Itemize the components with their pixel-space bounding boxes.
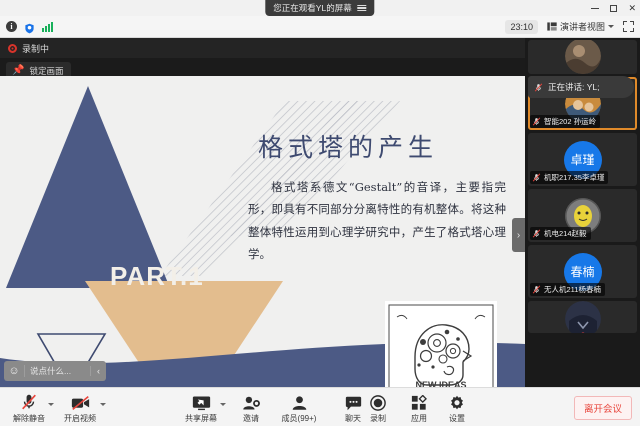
settings-button[interactable]: 设置 <box>434 392 480 424</box>
participant-name: 智能202 孙运岭 <box>544 116 596 127</box>
participants-button[interactable]: 成员(99+) <box>272 392 326 424</box>
top-toolbar-left-group: i <box>6 21 53 32</box>
mic-off-icon <box>532 285 541 294</box>
video-button-label: 开启视频 <box>64 413 96 424</box>
participant-tile[interactable] <box>528 301 637 333</box>
shield-icon[interactable] <box>24 21 35 32</box>
brain-idea-graphic: NEW IDEAS BE MORE CREATIVE <box>385 301 497 387</box>
participant-tile[interactable] <box>528 40 637 74</box>
recording-dot-icon <box>8 44 17 53</box>
mic-off-icon <box>20 392 38 411</box>
speaking-now-toast: 正在讲话: YL; <box>528 76 634 98</box>
fullscreen-icon[interactable] <box>623 21 634 32</box>
meeting-timer: 23:10 <box>505 20 538 34</box>
chat-input-placeholder[interactable]: 说点什么... <box>24 365 90 377</box>
mic-off-icon <box>532 229 541 238</box>
settings-label: 设置 <box>449 413 465 424</box>
slide-body-text: 格式塔系德文“Gestalt”的音译，主要指完形，即具有不同部分分离特性的有机整… <box>248 176 506 266</box>
share-screen-button[interactable]: 共享屏幕 <box>178 392 224 424</box>
minimize-button[interactable] <box>591 8 599 9</box>
illustration-headline: NEW IDEAS <box>415 380 466 387</box>
invite-button[interactable]: 邀请 <box>228 392 274 424</box>
banner-menu-icon[interactable] <box>358 5 367 12</box>
share-screen-label: 共享屏幕 <box>185 413 217 424</box>
mic-off-icon <box>532 173 541 182</box>
participant-name-badge: 智能202 孙运岭 <box>530 115 600 128</box>
pin-icon: 📌 <box>12 66 24 76</box>
mute-button[interactable]: 解除静音 <box>6 392 52 424</box>
participant-name: 机职217.35李卓瑾 <box>544 172 604 183</box>
participant-tile[interactable]: 春楠 无人机211杨春楠 <box>528 245 637 298</box>
slide-chat-input-bar[interactable]: ☺ 说点什么... ‹ <box>4 361 106 381</box>
apps-label: 应用 <box>411 413 427 424</box>
top-toolbar-right-group: 23:10 演讲者视图 <box>505 20 634 34</box>
video-button[interactable]: 开启视频 <box>57 392 103 424</box>
participant-name: 无人机211杨春楠 <box>544 284 601 295</box>
leave-meeting-button[interactable]: 离开会议 <box>574 396 632 420</box>
meeting-bottom-toolbar: 解除静音 开启视频 共享屏幕 <box>0 387 640 426</box>
maximize-button[interactable] <box>610 5 617 12</box>
avatar <box>565 40 601 74</box>
invite-icon <box>242 392 261 411</box>
recording-status-bar: 录制中 <box>0 38 525 58</box>
speaker-view-icon <box>547 22 557 31</box>
close-button[interactable]: ✕ <box>628 4 636 13</box>
mic-off-icon <box>532 117 541 126</box>
recording-label: 录制中 <box>22 42 49 55</box>
apps-icon <box>411 392 427 411</box>
slide-part-label: PART.1 <box>110 261 204 292</box>
viewing-screen-label: 您正在观看YL的屏幕 <box>273 2 351 14</box>
presentation-slide: 格式塔的产生 格式塔系德文“Gestalt”的音译，主要指完形，即具有不同部分分… <box>0 76 525 387</box>
participant-tile[interactable]: 卓瑾 机职217.35李卓瑾 <box>528 133 637 186</box>
emoji-icon[interactable]: ☺ <box>4 365 24 377</box>
participants-label: 成员(99+) <box>282 413 317 424</box>
slide-title: 格式塔的产生 <box>258 128 438 164</box>
record-icon <box>370 392 386 411</box>
record-button[interactable]: 录制 <box>355 392 401 424</box>
view-mode-label: 演讲者视图 <box>560 20 605 33</box>
participant-tile[interactable]: 机电214赵毅 <box>528 189 637 242</box>
chat-collapse-button[interactable]: ‹ <box>90 366 106 376</box>
avatar <box>565 301 601 333</box>
window-title-bar: 您正在观看YL的屏幕 ✕ <box>0 0 640 16</box>
invite-label: 邀请 <box>243 413 259 424</box>
signal-bars-icon[interactable] <box>42 22 53 32</box>
participants-icon <box>291 392 308 411</box>
stage-expand-button[interactable]: › <box>512 218 525 252</box>
mute-options-chevron-icon[interactable] <box>48 403 54 406</box>
info-icon[interactable]: i <box>6 21 17 32</box>
chevron-down-icon <box>608 25 614 28</box>
speaking-now-label: 正在讲话: YL; <box>548 81 599 93</box>
share-options-chevron-icon[interactable] <box>220 403 226 406</box>
participant-name-badge: 无人机211杨春楠 <box>530 283 605 296</box>
participant-name: 机电214赵毅 <box>544 228 587 239</box>
mic-off-icon <box>534 83 543 92</box>
record-label: 录制 <box>370 413 386 424</box>
window-controls: ✕ <box>591 0 636 16</box>
video-options-chevron-icon[interactable] <box>100 403 106 406</box>
brain-illustration: NEW IDEAS BE MORE CREATIVE <box>385 301 497 387</box>
shared-screen-stage: 录制中 📌 锁定画面 <box>0 38 525 387</box>
view-mode-selector[interactable]: 演讲者视图 <box>547 20 614 33</box>
meeting-top-toolbar: i 23:10 演讲者视图 <box>0 16 640 38</box>
video-off-icon <box>71 392 90 411</box>
share-screen-icon <box>192 392 211 411</box>
viewing-screen-banner[interactable]: 您正在观看YL的屏幕 <box>265 0 374 16</box>
zoom-meeting-window: 您正在观看YL的屏幕 ✕ i 23:10 <box>0 0 640 426</box>
participant-name-badge: 机职217.35李卓瑾 <box>530 171 608 184</box>
mute-button-label: 解除静音 <box>13 413 45 424</box>
participant-name-badge: 机电214赵毅 <box>530 227 591 240</box>
settings-icon <box>449 392 465 411</box>
